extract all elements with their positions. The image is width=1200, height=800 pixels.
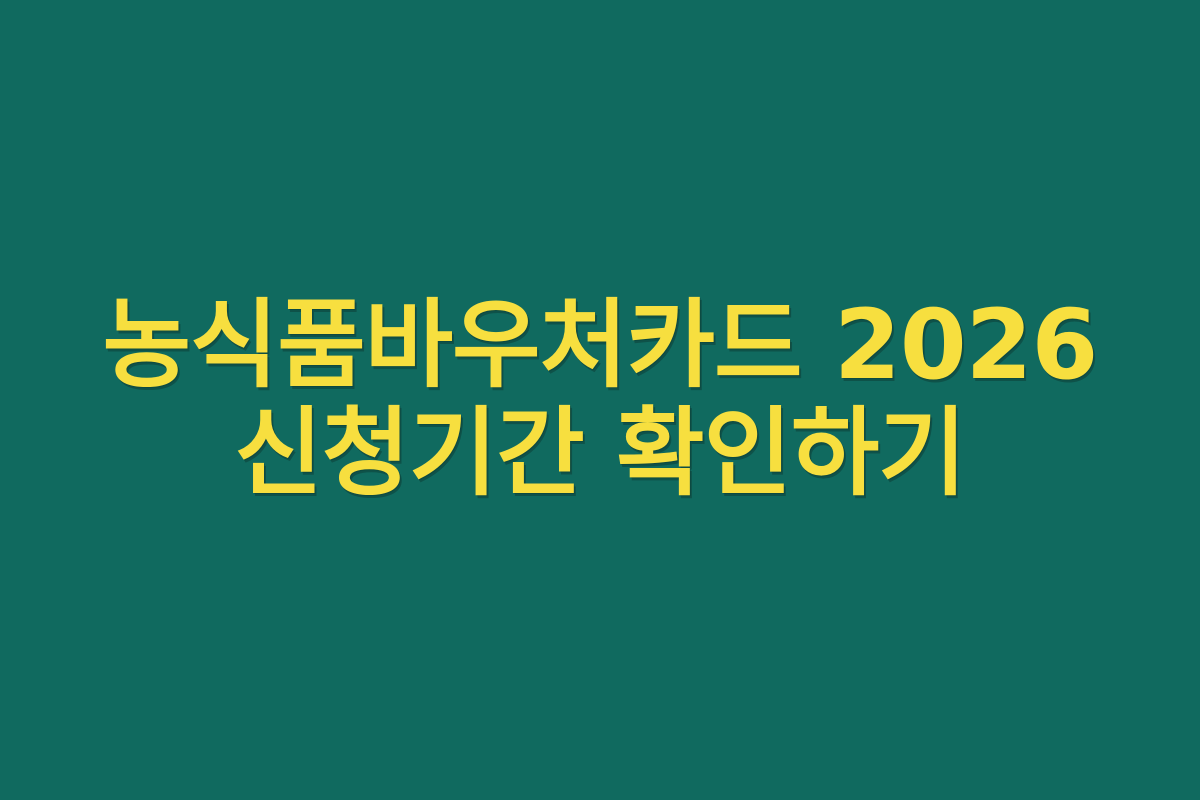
headline-block: 농식품바우처카드 2026 신청기간 확인하기 (0, 0, 1200, 800)
headline-line-1: 농식품바우처카드 2026 (0, 292, 1200, 400)
headline-line-2: 신청기간 확인하기 (0, 400, 1200, 508)
thumbnail-canvas: 농식품바우처카드 2026 신청기간 확인하기 (0, 0, 1200, 800)
